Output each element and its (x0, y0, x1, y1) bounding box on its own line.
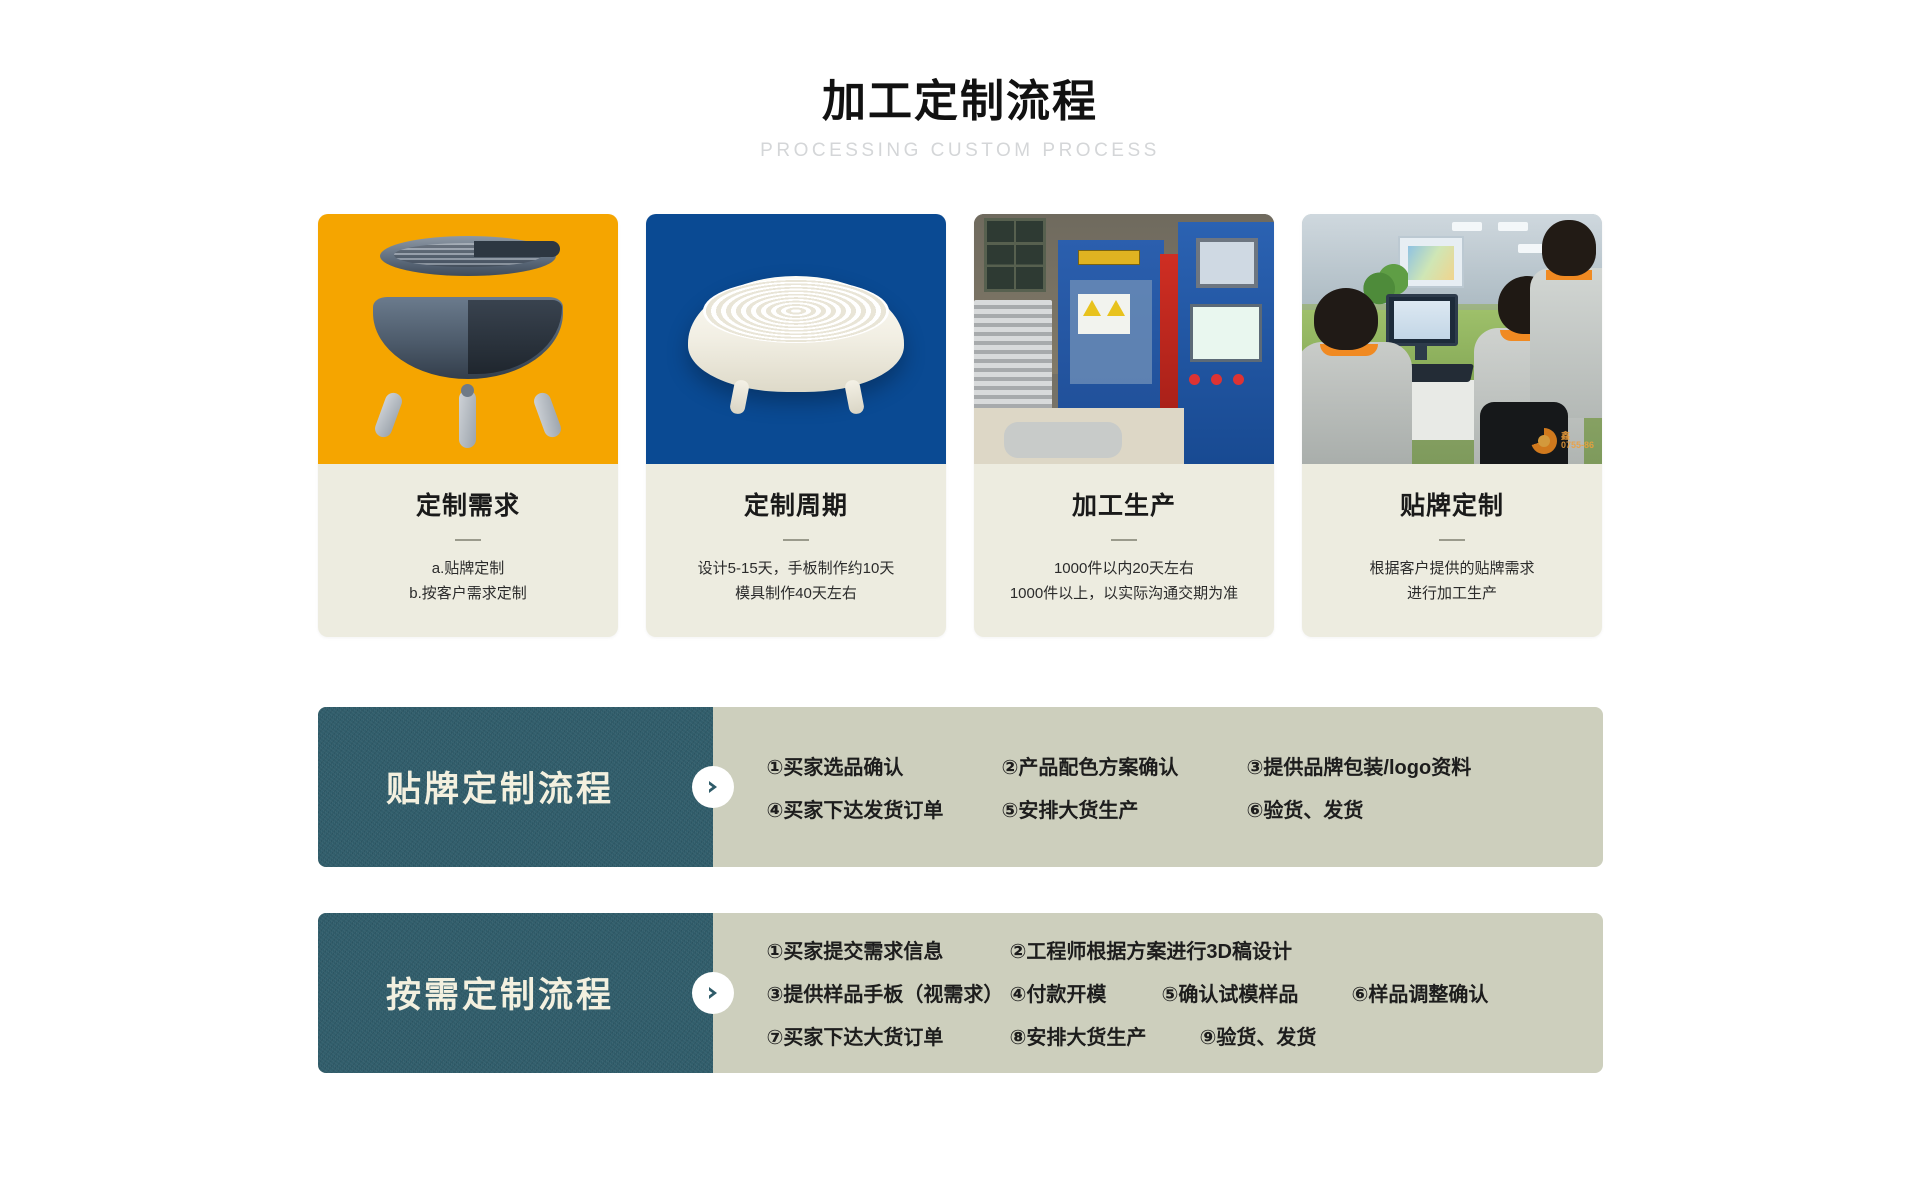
chevron-right-icon[interactable] (692, 972, 734, 1014)
banner-1-step-6: ⑥验货、发货 (1247, 794, 1364, 823)
card-1-image-exploded-product (318, 214, 618, 464)
page-subtitle: PROCESSING CUSTOM PROCESS (0, 140, 1920, 162)
banner-1-step-1: ①买家选品确认 (767, 751, 1002, 780)
card-2-desc-line-1: 设计5-15天，手板制作约10天 (660, 557, 932, 582)
banner-2-step-4: ④付款开模 (1010, 978, 1162, 1007)
banner-1-label-panel: 贴牌定制流程 (318, 707, 713, 867)
banner-1-step-4: ④买家下达发货订单 (767, 794, 1002, 823)
banner-1-step-row-2: ④买家下达发货订单 ⑤安排大货生产 ⑥验货、发货 (767, 794, 1569, 823)
card-3-desc-line-2: 1000件以上，以实际沟通交期为准 (988, 582, 1260, 607)
card-2-body: 定制周期 设计5-15天，手板制作约10天 模具制作40天左右 (646, 464, 946, 637)
office-ceiling-light-2 (1498, 222, 1528, 231)
card-3-desc-line-1: 1000件以内20天左右 (988, 557, 1260, 582)
process-cards: 定制需求 a.贴牌定制 b.按客户需求定制 定制周期 (0, 214, 1920, 637)
card-2-desc-line-2: 模具制作40天左右 (660, 582, 932, 607)
banner-2-step-3: ③提供样品手板（视需求） (767, 978, 1010, 1007)
card-3-title: 加工生产 (988, 486, 1260, 522)
banner-1-label: 贴牌定制流程 (386, 761, 644, 812)
banner-2-step-1: ①买家提交需求信息 (767, 935, 1010, 964)
card-3-body: 加工生产 1000件以内20天左右 1000件以上，以实际沟通交期为准 (974, 464, 1274, 637)
card-1-body: 定制需求 a.贴牌定制 b.按客户需求定制 (318, 464, 618, 637)
company-logo-icon (1531, 428, 1557, 454)
banner-2-step-6: ⑥样品调整确认 (1352, 978, 1489, 1007)
office-person-3-body (1530, 268, 1602, 418)
banner-1-step-row-1: ①买家选品确认 ②产品配色方案确认 ③提供品牌包装/logo资料 (767, 751, 1569, 780)
banner-1-step-2: ②产品配色方案确认 (1002, 751, 1247, 780)
banner-2-step-9: ⑨验货、发货 (1200, 1021, 1317, 1050)
card-1-desc-line-1: a.贴牌定制 (332, 557, 604, 582)
prototype-body-shape (688, 276, 904, 392)
banner-2-label: 按需定制流程 (386, 967, 644, 1018)
product-leg-center-shape (459, 390, 476, 448)
banner-2-step-2: ②工程师根据方案进行3D稿设计 (1010, 935, 1293, 964)
banner-2-step-row-1: ①买家提交需求信息 ②工程师根据方案进行3D稿设计 (767, 935, 1569, 964)
watermark-line-2: 0755-86 (1561, 441, 1594, 451)
card-4-desc: 根据客户提供的贴牌需求 进行加工生产 (1316, 557, 1588, 607)
process-card-4[interactable]: 鑫 0755-86 贴牌定制 根据客户提供的贴牌需求 进行加工生产 (1302, 214, 1602, 637)
card-4-divider (1439, 539, 1465, 541)
office-monitor-stand (1415, 346, 1427, 360)
page-header: 加工定制流程 PROCESSING CUSTOM PROCESS (0, 0, 1920, 162)
product-leg-left-shape (373, 391, 405, 440)
prototype-spiral-top-shape (703, 279, 889, 343)
page-root: 加工定制流程 PROCESSING CUSTOM PROCESS 定制需求 a.… (0, 0, 1920, 1200)
banner-2-step-8: ⑧安排大货生产 (1010, 1021, 1200, 1050)
product-leg-right-shape (532, 391, 564, 440)
page-title: 加工定制流程 (0, 78, 1920, 126)
card-2-title: 定制周期 (660, 486, 932, 522)
product-lid-dark-shape (474, 241, 560, 257)
process-card-3[interactable]: 加工生产 1000件以内20天左右 1000件以上，以实际沟通交期为准 (974, 214, 1274, 637)
office-ceiling-light-1 (1452, 222, 1482, 231)
factory-yellow-nameplate (1078, 250, 1140, 265)
card-3-desc: 1000件以内20天左右 1000件以上，以实际沟通交期为准 (988, 557, 1260, 607)
banner-1-step-5: ⑤安排大货生产 (1002, 794, 1247, 823)
banner-custom-process: 按需定制流程 ①买家提交需求信息 ②工程师根据方案进行3D稿设计 ③提供样品手板… (318, 913, 1603, 1073)
card-1-title: 定制需求 (332, 486, 604, 522)
watermark-text: 鑫 0755-86 (1561, 432, 1594, 452)
card-2-image-white-prototype (646, 214, 946, 464)
card-4-desc-line-2: 进行加工生产 (1316, 582, 1588, 607)
factory-molded-part (1004, 422, 1122, 458)
banner-2-label-panel: 按需定制流程 (318, 913, 713, 1073)
office-person-3-head (1542, 220, 1596, 276)
factory-control-screen-bottom (1190, 304, 1262, 362)
banner-1-step-3: ③提供品牌包装/logo资料 (1247, 751, 1472, 780)
office-person-1-body (1302, 342, 1412, 464)
card-4-desc-line-1: 根据客户提供的贴牌需求 (1316, 557, 1588, 582)
banner-2-step-row-3: ⑦买家下达大货订单 ⑧安排大货生产 ⑨验货、发货 (767, 1021, 1569, 1050)
card-3-divider (1111, 539, 1137, 541)
card-4-title: 贴牌定制 (1316, 486, 1588, 522)
office-monitor-cad (1386, 294, 1458, 346)
factory-window (984, 218, 1046, 292)
banner-2-step-7: ⑦买家下达大货订单 (767, 1021, 1010, 1050)
banner-2-steps: ①买家提交需求信息 ②工程师根据方案进行3D稿设计 ③提供样品手板（视需求） ④… (713, 913, 1603, 1073)
card-1-divider (455, 539, 481, 541)
banner-1-steps: ①买家选品确认 ②产品配色方案确认 ③提供品牌包装/logo资料 ④买家下达发货… (713, 707, 1603, 867)
office-person-1-head (1314, 288, 1378, 350)
card-2-divider (783, 539, 809, 541)
card-3-image-factory-photo (974, 214, 1274, 464)
factory-warning-sign (1078, 294, 1130, 334)
card-2-desc: 设计5-15天，手板制作约10天 模具制作40天左右 (660, 557, 932, 607)
banner-2-step-5: ⑤确认试模样品 (1162, 978, 1352, 1007)
process-card-1[interactable]: 定制需求 a.贴牌定制 b.按客户需求定制 (318, 214, 618, 637)
factory-control-screen-top (1196, 238, 1258, 288)
process-banners: 贴牌定制流程 ①买家选品确认 ②产品配色方案确认 ③提供品牌包装/logo资料 … (0, 707, 1920, 1073)
banner-oem-process: 贴牌定制流程 ①买家选品确认 ②产品配色方案确认 ③提供品牌包装/logo资料 … (318, 707, 1603, 867)
product-bowl-dark-shape (468, 300, 562, 374)
card-1-desc-line-2: b.按客户需求定制 (332, 582, 604, 607)
chevron-right-icon[interactable] (692, 766, 734, 808)
card-1-desc: a.贴牌定制 b.按客户需求定制 (332, 557, 604, 607)
process-card-2[interactable]: 定制周期 设计5-15天，手板制作约10天 模具制作40天左右 (646, 214, 946, 637)
banner-2-step-row-2: ③提供样品手板（视需求） ④付款开模 ⑤确认试模样品 ⑥样品调整确认 (767, 978, 1569, 1007)
office-photo-watermark: 鑫 0755-86 (1531, 428, 1594, 454)
card-4-body: 贴牌定制 根据客户提供的贴牌需求 进行加工生产 (1302, 464, 1602, 637)
prototype-leg-right-shape (844, 379, 865, 415)
card-4-image-office-photo: 鑫 0755-86 (1302, 214, 1602, 464)
